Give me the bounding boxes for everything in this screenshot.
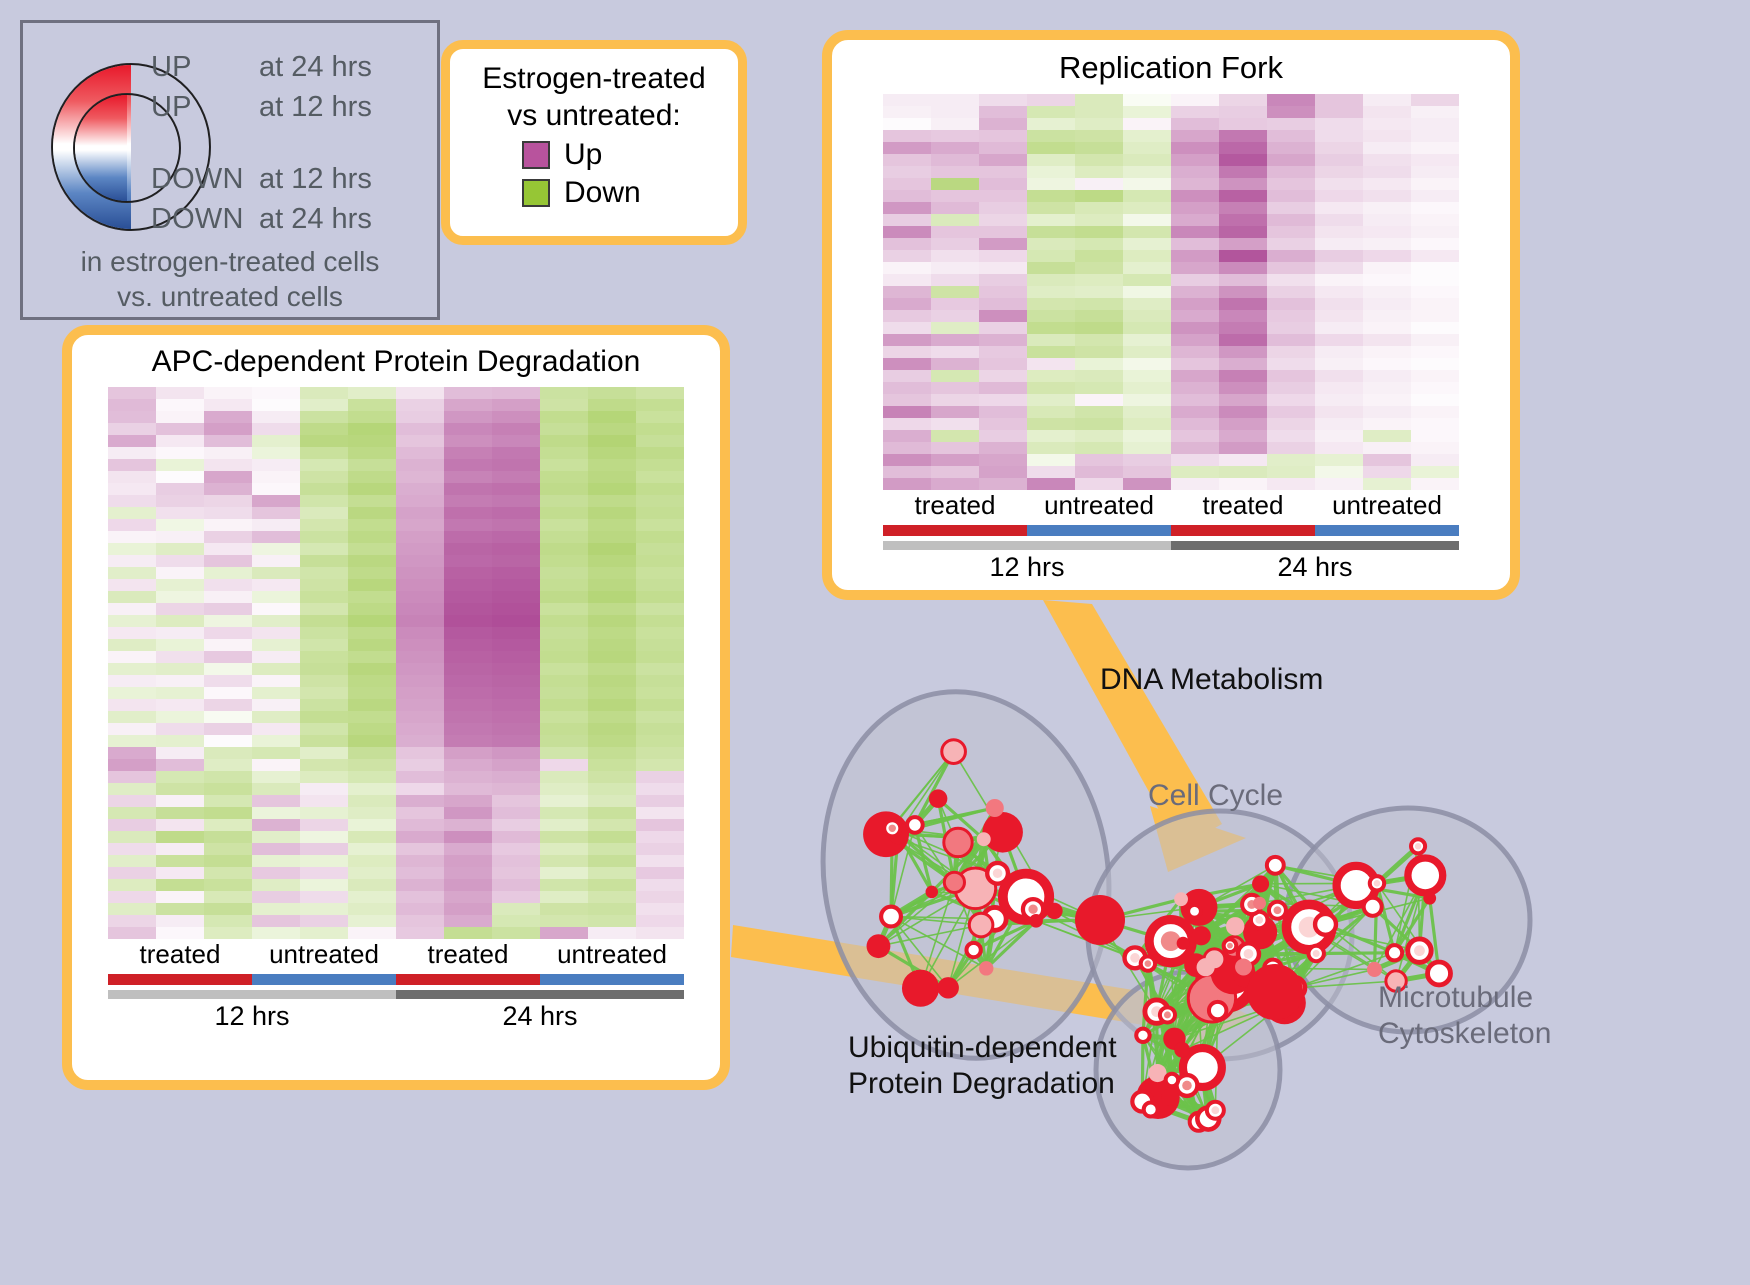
heatmap-cell [300,459,348,471]
heatmap-row [883,310,1459,322]
heatmap-cell [540,507,588,519]
heatmap-cell [156,723,204,735]
heatmap-cell [348,879,396,891]
heatmap-cell [204,435,252,447]
heatmap-row [108,567,684,579]
heatmap-cell [1123,454,1171,466]
heatmap-cell [931,406,979,418]
heatmap-cell [1123,226,1171,238]
heatmap-cell [1267,370,1315,382]
heatmap-cell [1363,442,1411,454]
heatmap-cell [1219,418,1267,430]
heatmap-cell [1123,478,1171,490]
heatmap-cell [492,927,540,939]
heatmap-cell [444,435,492,447]
heatmap-row [108,399,684,411]
network-label-microtubule-cytoskeleton: Microtubule Cytoskeleton [1378,980,1551,1052]
heatmap-cell [588,459,636,471]
heatmap-cell [252,699,300,711]
heatmap-cell [979,250,1027,262]
heatmap-cell [1027,286,1075,298]
heatmap-cell [204,723,252,735]
heatmap-cell [252,879,300,891]
heatmap-row [883,370,1459,382]
heatmap-cell [492,495,540,507]
heatmap-cell [979,418,1027,430]
heatmap-cell [1219,298,1267,310]
heatmap-cell [348,651,396,663]
heatmap-cell [444,399,492,411]
heatmap-cell [1171,142,1219,154]
heatmap-cell [252,399,300,411]
heatmap-cell [348,663,396,675]
heatmap-cell [931,370,979,382]
heatmap-cell [252,891,300,903]
heatmap-cell [348,555,396,567]
heatmap-cell [1267,238,1315,250]
heatmap-cell [396,627,444,639]
heatmap-cell [540,795,588,807]
heatmap-cell [636,627,684,639]
heatmap-cell [588,387,636,399]
heatmap-cell [540,915,588,927]
heatmap-cell [156,807,204,819]
heatmap-cell [492,831,540,843]
heatmap-cell [300,783,348,795]
heatmap-cell [204,591,252,603]
heatmap-cell [348,759,396,771]
heatmap-cell [492,795,540,807]
heatmap-apc-group-labels: treateduntreatedtreateduntreated [108,939,684,970]
heatmap-row [108,927,684,939]
heatmap-cell [588,867,636,879]
heatmap-cell [883,394,931,406]
heatmap-cell [108,543,156,555]
heatmap-cell [348,591,396,603]
legend-label-up: Up [564,138,602,172]
network-node-core [1182,1081,1192,1091]
heatmap-cell [1363,286,1411,298]
heatmap-cell [1123,310,1171,322]
heatmap-cell [444,891,492,903]
heatmap-cell [204,915,252,927]
heatmap-cell [396,519,444,531]
heatmap-row [883,298,1459,310]
heatmap-cell [883,166,931,178]
heatmap-cell [396,927,444,939]
heatmap-row [108,423,684,435]
heatmap-cell [540,663,588,675]
network-node-core [1192,908,1198,914]
heatmap-cell [396,495,444,507]
heatmap-cell [883,418,931,430]
heatmap-cell [300,603,348,615]
heatmap-cell [1123,274,1171,286]
heatmap-cell [931,166,979,178]
heatmap-cell [1411,286,1459,298]
heatmap-cell [1171,166,1219,178]
heatmap-cell [252,831,300,843]
heatmap-row [108,771,684,783]
heatmap-cell [1075,322,1123,334]
heatmap-cell [1411,454,1459,466]
heatmap-cell [444,627,492,639]
heatmap-cell [252,915,300,927]
heatmap-cell [492,867,540,879]
heatmap-cell [1315,118,1363,130]
heatmap-cell [252,771,300,783]
heatmap-cell [1219,190,1267,202]
heatmap-cell [588,483,636,495]
heatmap-cell [492,507,540,519]
heatmap-cell [1123,214,1171,226]
heatmap-cell [540,651,588,663]
heatmap-cell [1219,334,1267,346]
heatmap-cell [156,783,204,795]
heatmap-cell [348,867,396,879]
heatmap-cell [1027,370,1075,382]
heatmap-time-segment [1171,541,1459,550]
heatmap-cell [492,555,540,567]
heatmap-cell [444,675,492,687]
heatmap-cell [636,471,684,483]
heatmap-group-label: untreated [252,939,396,970]
heatmap-cell [348,423,396,435]
heatmap-cell [1123,178,1171,190]
heatmap-cell [492,807,540,819]
heatmap-cell [300,447,348,459]
heatmap-cell [588,435,636,447]
heatmap-cell [636,891,684,903]
heatmap-cell [1363,406,1411,418]
heatmap-cell [348,483,396,495]
heatmap-cell [1411,346,1459,358]
heatmap-cell [1315,466,1363,478]
heatmap-cell [348,687,396,699]
network-node [1247,964,1303,1020]
heatmap-cell [1411,94,1459,106]
heatmap-cell [636,723,684,735]
heatmap-cell [1075,214,1123,226]
heatmap-cell [1123,406,1171,418]
heatmap-row [108,531,684,543]
heatmap-cell [636,579,684,591]
heatmap-cell [252,819,300,831]
heatmap-cell [396,867,444,879]
network-node [1075,895,1125,945]
heatmap-cell [492,543,540,555]
heatmap-cell [1267,454,1315,466]
legend-swatch-down [522,179,550,207]
heatmap-cell [1363,250,1411,262]
heatmap-cell [204,483,252,495]
heatmap-cell [588,831,636,843]
heatmap-cell [931,262,979,274]
heatmap-cell [588,855,636,867]
heatmap-cell [348,399,396,411]
heatmap-cell [348,507,396,519]
heatmap-cell [636,591,684,603]
legend-row-up-12: UP at 12 hrs [151,91,372,124]
heatmap-cell [1123,94,1171,106]
heatmap-cell [300,483,348,495]
heatmap-cell [444,543,492,555]
heatmap-cell [1267,262,1315,274]
legend-up-down-title-line-1: Estrogen-treated [450,61,738,98]
heatmap-cell [1075,334,1123,346]
heatmap-cell [492,687,540,699]
heatmap-cell [1027,94,1075,106]
heatmap-cell [1363,190,1411,202]
heatmap-cell [252,543,300,555]
heatmap-row [108,819,684,831]
heatmap-cell [1075,178,1123,190]
heatmap-cell [204,675,252,687]
heatmap-cell [1267,418,1315,430]
heatmap-cell [1171,454,1219,466]
heatmap-cell [636,771,684,783]
heatmap-cell [636,855,684,867]
heatmap-cell [636,759,684,771]
heatmap-cell [108,387,156,399]
legend-row-up-24: UP at 24 hrs [151,51,372,84]
heatmap-cell [1267,478,1315,490]
heatmap-cell [1171,418,1219,430]
heatmap-row [108,843,684,855]
heatmap-cell [931,478,979,490]
network-node [937,977,958,998]
heatmap-cell [204,615,252,627]
network-node-core [970,947,977,954]
heatmap-cell [1411,310,1459,322]
heatmap-cell [108,567,156,579]
heatmap-cell [108,531,156,543]
heatmap-cell [588,843,636,855]
heatmap-cell [540,747,588,759]
heatmap-cell [1363,178,1411,190]
heatmap-cell [1411,358,1459,370]
heatmap-cell [540,867,588,879]
heatmap-cell [300,843,348,855]
heatmap-cell [540,399,588,411]
heatmap-cell [979,370,1027,382]
heatmap-cell [1411,442,1459,454]
heatmap-cell [1363,382,1411,394]
heatmap-row [108,555,684,567]
heatmap-cell [883,370,931,382]
heatmap-cell [883,226,931,238]
heatmap-cell [1075,166,1123,178]
heatmap-group-label: treated [1171,490,1315,521]
heatmap-cell [1219,202,1267,214]
heatmap-cell [636,531,684,543]
heatmap-cell [540,831,588,843]
heatmap-cell [883,430,931,442]
heatmap-cell [588,639,636,651]
heatmap-cell [204,867,252,879]
heatmap-cell [204,627,252,639]
heatmap-cell [636,819,684,831]
heatmap-cell [300,675,348,687]
network-node-core [911,821,918,828]
heatmap-cell [108,687,156,699]
heatmap-cell [540,723,588,735]
heatmap-cell [1027,202,1075,214]
heatmap-cell [931,238,979,250]
heatmap-cell [156,651,204,663]
heatmap-cell [348,519,396,531]
heatmap-cell [1219,430,1267,442]
heatmap-cell [108,723,156,735]
legend-caption: in estrogen-treated cells vs. untreated … [23,245,437,314]
heatmap-cell [444,615,492,627]
heatmap-cell [1123,370,1171,382]
heatmap-cell [1219,166,1267,178]
heatmap-cell [1123,334,1171,346]
heatmap-cell [156,903,204,915]
heatmap-cell [156,675,204,687]
heatmap-cell [931,286,979,298]
heatmap-cell [300,927,348,939]
heatmap-cell [108,399,156,411]
heatmap-cell [1363,274,1411,286]
network-node-core [993,869,1003,879]
heatmap-cell [883,190,931,202]
heatmap-cell [1027,214,1075,226]
heatmap-cell [396,747,444,759]
heatmap-cell [444,495,492,507]
heatmap-cell [1267,226,1315,238]
heatmap-cell [492,387,540,399]
heatmap-cell [883,286,931,298]
heatmap-cell [1027,478,1075,490]
network-node-core [1374,880,1381,887]
heatmap-cell [1411,298,1459,310]
heatmap-cell [636,603,684,615]
heatmap-cell [204,699,252,711]
heatmap-cell [348,603,396,615]
heatmap-treatment-segment [108,974,252,985]
heatmap-treatment-segment [1315,525,1459,536]
panel-apc-degradation-title: APC-dependent Protein Degradation [72,345,720,379]
heatmap-treatment-segment [252,974,396,985]
heatmap-cell [588,891,636,903]
heatmap-row [108,627,684,639]
heatmap-cell [588,411,636,423]
network-node-core [1169,1077,1175,1083]
heatmap-cell [1075,346,1123,358]
heatmap-cell [1123,358,1171,370]
heatmap-cell [252,411,300,423]
heatmap-row [108,639,684,651]
heatmap-cell [1123,394,1171,406]
heatmap-row [883,154,1459,166]
heatmap-cell [979,310,1027,322]
heatmap-time-segment [396,990,684,999]
heatmap-cell [1315,418,1363,430]
heatmap-cell [396,879,444,891]
heatmap-cell [979,202,1027,214]
heatmap-cell [156,771,204,783]
heatmap-treatment-segment [396,974,540,985]
heatmap-cell [540,711,588,723]
heatmap-cell [1075,370,1123,382]
heatmap-cell [1171,382,1219,394]
heatmap-cell [204,831,252,843]
heatmap-cell [444,411,492,423]
heatmap-cell [444,639,492,651]
heatmap-cell [883,346,931,358]
heatmap-cell [108,459,156,471]
legend-caption-line-2: vs. untreated cells [23,280,437,315]
heatmap-cell [1411,106,1459,118]
heatmap-cell [156,531,204,543]
heatmap-cell [1315,154,1363,166]
legend-time-up-12: at 12 hrs [259,91,372,124]
heatmap-cell [492,531,540,543]
heatmap-cell [1171,466,1219,478]
heatmap-cell [1123,142,1171,154]
heatmap-apc-degradation [108,387,684,939]
heatmap-cell [540,699,588,711]
heatmap-cell [1411,238,1459,250]
heatmap-cell [1075,454,1123,466]
heatmap-cell [492,579,540,591]
heatmap-cell [588,543,636,555]
heatmap-cell [1363,418,1411,430]
heatmap-cell [1315,334,1363,346]
heatmap-cell [931,118,979,130]
network-node [1197,958,1215,976]
heatmap-cell [1267,334,1315,346]
heatmap-cell [1075,286,1123,298]
heatmap-row [883,322,1459,334]
heatmap-cell [492,819,540,831]
heatmap-cell [492,615,540,627]
heatmap-cell [1219,358,1267,370]
heatmap-cell [588,723,636,735]
heatmap-cell [883,94,931,106]
heatmap-cell [444,663,492,675]
heatmap-cell [1411,214,1459,226]
heatmap-cell [588,567,636,579]
heatmap-cell [931,250,979,262]
heatmap-cell [540,819,588,831]
heatmap-cell [931,394,979,406]
heatmap-cell [1411,334,1459,346]
heatmap-cell [300,771,348,783]
heatmap-cell [931,214,979,226]
heatmap-cell [444,855,492,867]
heatmap-cell [1411,406,1459,418]
heatmap-cell [396,687,444,699]
heatmap-cell [156,627,204,639]
heatmap-cell [540,855,588,867]
heatmap-cell [300,471,348,483]
heatmap-cell [1315,442,1363,454]
heatmap-cell [492,639,540,651]
heatmap-cell [1267,394,1315,406]
heatmap-cell [540,687,588,699]
heatmap-cell [396,855,444,867]
heatmap-cell [348,891,396,903]
heatmap-cell [348,903,396,915]
heatmap-cell [300,519,348,531]
heatmap-cell [348,831,396,843]
heatmap-cell [1363,310,1411,322]
heatmap-row [883,478,1459,490]
heatmap-cell [156,747,204,759]
